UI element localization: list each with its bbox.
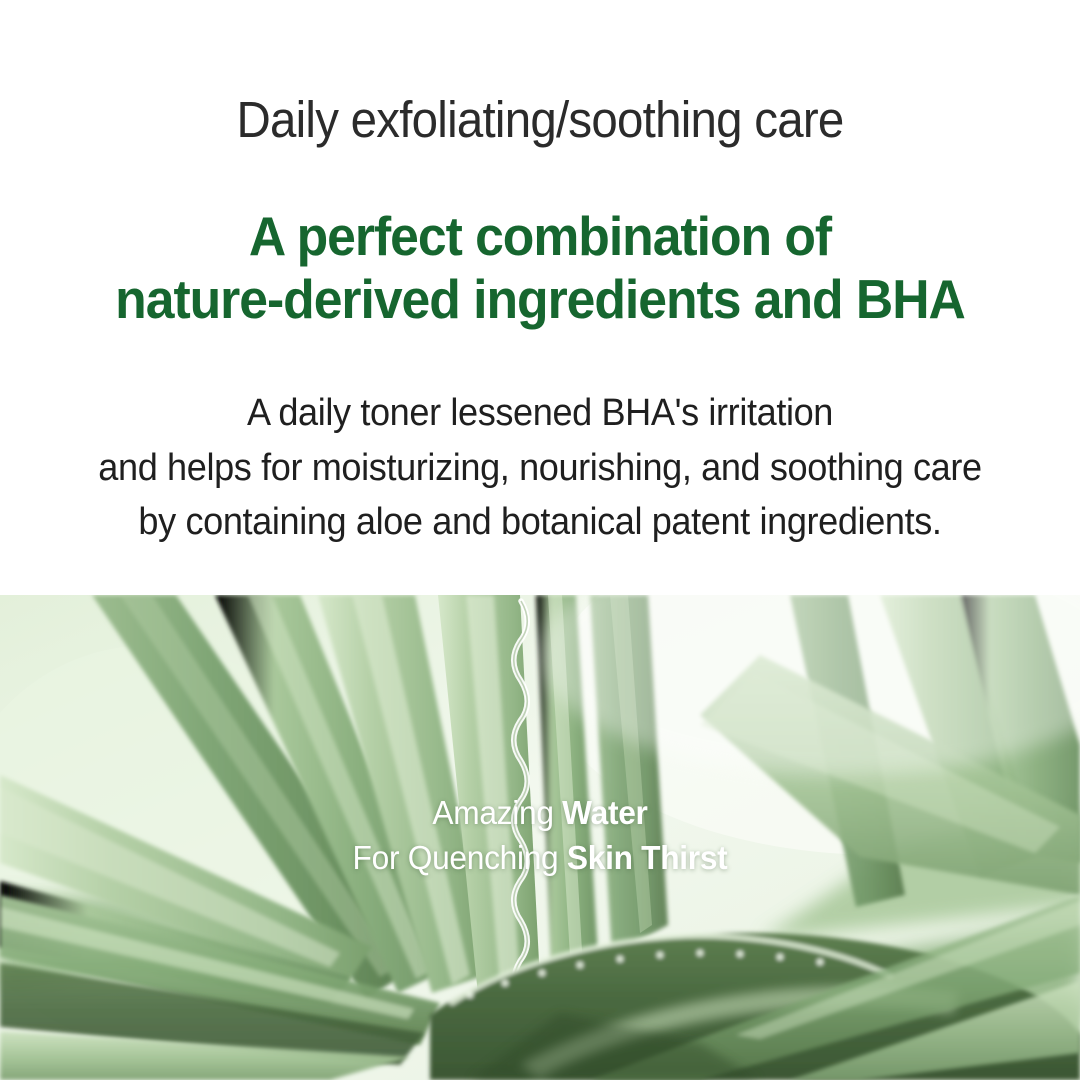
aloe-photo-illustration: [0, 595, 1080, 1080]
body-line-3: by containing aloe and botanical patent …: [27, 495, 1053, 550]
headline-text-section: Daily exfoliating/soothing care A perfec…: [0, 0, 1080, 595]
product-detail-banner: Daily exfoliating/soothing care A perfec…: [0, 0, 1080, 1080]
aloe-photo: Amazing Water For Quenching Skin Thirst: [0, 595, 1080, 1080]
eyebrow-text: Daily exfoliating/soothing care: [38, 92, 1042, 147]
body-description: A daily toner lessened BHA's irritation …: [27, 386, 1053, 550]
body-line-1: A daily toner lessened BHA's irritation: [27, 386, 1053, 441]
headline-line-1: A perfect combination of: [32, 205, 1047, 268]
body-line-2: and helps for moisturizing, nourishing, …: [27, 441, 1053, 496]
page-title: A perfect combination of nature-derived …: [32, 205, 1047, 330]
headline-line-2: nature-derived ingredients and BHA: [32, 268, 1047, 331]
